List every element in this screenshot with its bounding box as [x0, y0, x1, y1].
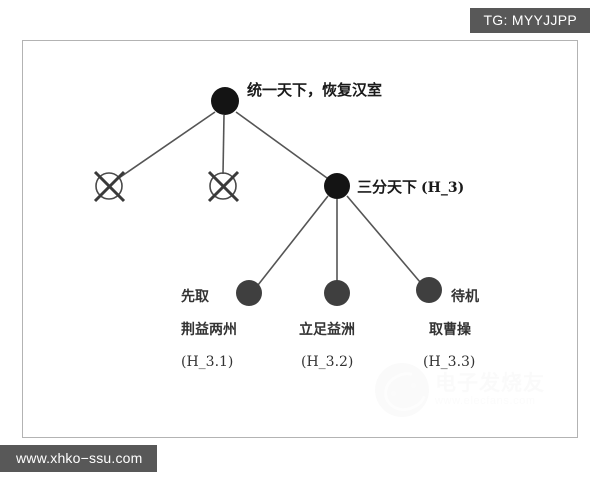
node-failed-2[interactable]	[209, 172, 238, 201]
edge-root-to-failed-2	[223, 115, 224, 174]
edge-group-branch	[258, 196, 420, 285]
node-branch-h3-code: (H_3)	[421, 180, 464, 196]
leaf-h33-code: (H_3.3)	[423, 354, 475, 370]
leaf-h33-line2: 取曹操	[429, 321, 472, 338]
tag-badge: TG: MYYJJPP	[470, 8, 590, 33]
decomposition-tree-svg: 统一天下，恢复汉室 三分天下 (H_3) 先取 荆益两州 (H_3.1)	[23, 41, 578, 438]
node-root-dot[interactable]	[211, 87, 239, 115]
node-leaf-h31-dot[interactable]	[236, 280, 262, 306]
leaf-h32-line2: 立足益洲	[299, 321, 355, 338]
node-branch-h3-dot[interactable]	[324, 173, 350, 199]
node-leaf-h31[interactable]: 先取 荆益两州 (H_3.1)	[181, 280, 262, 370]
edge-branch-to-leaf-h31	[258, 196, 328, 285]
leaf-h32-code: (H_3.2)	[301, 354, 353, 370]
node-leaf-h33[interactable]: 待机 取曹操 (H_3.3)	[416, 277, 479, 370]
node-leaf-h32[interactable]: 立足益洲 (H_3.2)	[299, 280, 355, 370]
node-branch-h3-label: 三分天下	[357, 178, 417, 196]
node-failed-1[interactable]	[95, 172, 124, 201]
edge-root-to-branch	[236, 112, 327, 178]
diagram-frame: 统一天下，恢复汉室 三分天下 (H_3) 先取 荆益两州 (H_3.1)	[22, 40, 578, 438]
node-root[interactable]: 统一天下，恢复汉室	[211, 81, 382, 115]
leaf-h31-line1: 先取	[181, 288, 210, 305]
edge-group-root	[119, 112, 327, 178]
node-leaf-h33-dot[interactable]	[416, 277, 442, 303]
node-branch-h3[interactable]: 三分天下 (H_3)	[324, 173, 464, 199]
leaf-h31-code: (H_3.1)	[181, 354, 233, 370]
site-watermark: www.xhko−ssu.com	[0, 445, 157, 472]
leaf-h33-line1: 待机	[451, 288, 479, 305]
edge-root-to-failed-1	[119, 112, 215, 178]
leaf-h31-line2: 荆益两州	[181, 321, 237, 338]
node-root-label: 统一天下，恢复汉室	[247, 81, 382, 99]
edge-branch-to-leaf-h33	[347, 196, 420, 282]
node-leaf-h32-dot[interactable]	[324, 280, 350, 306]
